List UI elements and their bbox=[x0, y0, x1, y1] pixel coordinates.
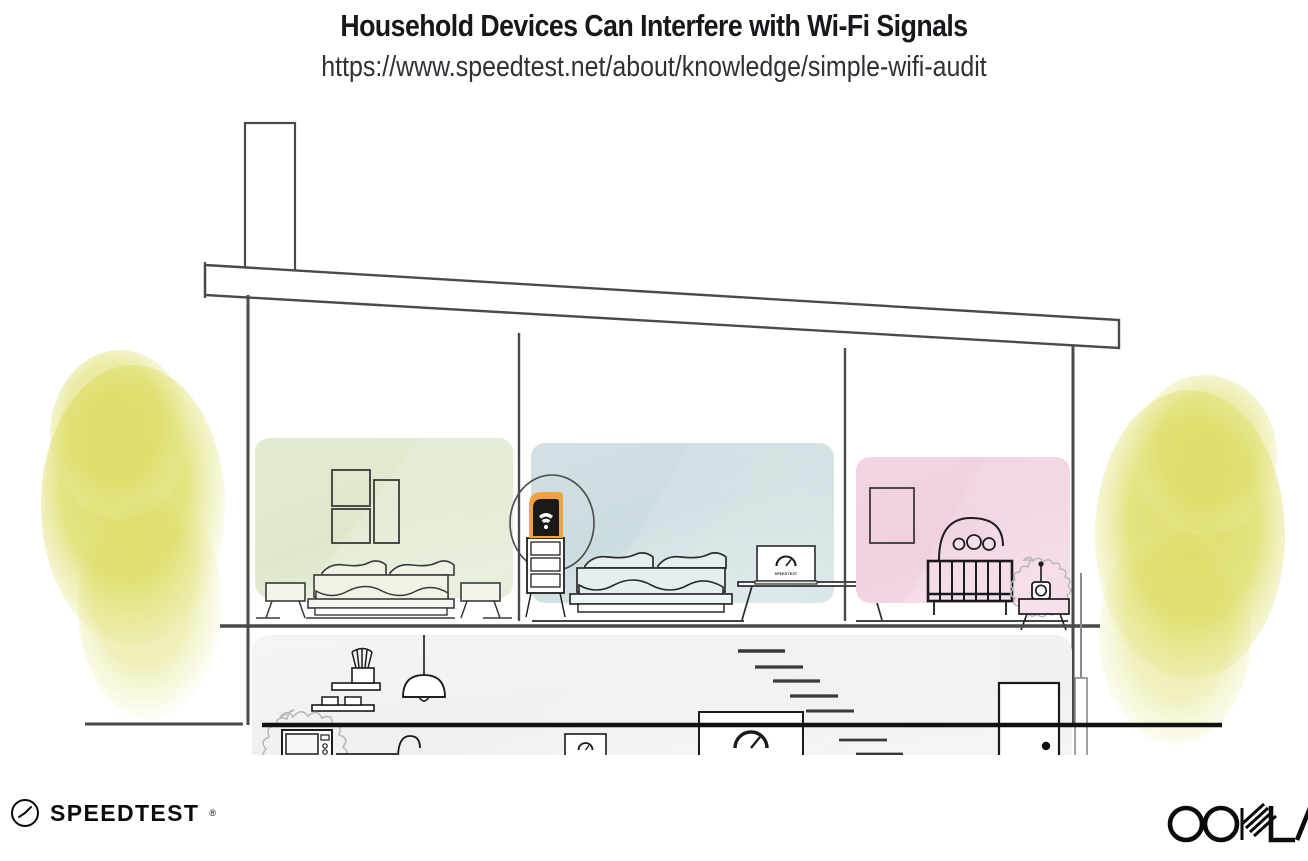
house-cutaway-svg: SPEEDTEST bbox=[0, 105, 1308, 755]
room-bedroom-blue: SPEEDTEST bbox=[510, 443, 886, 621]
source-url: https://www.speedtest.net/about/knowledg… bbox=[92, 51, 1217, 84]
tree-foliage-right bbox=[1095, 375, 1285, 745]
room-nursery-pink bbox=[856, 457, 1071, 630]
room-bedroom-green bbox=[255, 438, 513, 618]
microwave[interactable] bbox=[282, 730, 332, 755]
window-strip bbox=[1075, 573, 1087, 755]
nightstand-left bbox=[266, 583, 305, 618]
front-door[interactable] bbox=[999, 683, 1059, 755]
room-living-kitchen-gray: SPEEDTEST SPEEDTEST bbox=[252, 635, 1072, 755]
speedtest-gauge-icon bbox=[10, 798, 40, 828]
ookla-wordmark-icon bbox=[1164, 802, 1308, 846]
page-title: Household Devices Can Interfere with Wi-… bbox=[92, 8, 1217, 44]
speedtest-wordmark: SPEEDTEST bbox=[50, 800, 199, 827]
chimney bbox=[245, 123, 295, 278]
door-knob bbox=[1042, 742, 1050, 750]
ookla-logo[interactable] bbox=[1164, 802, 1308, 851]
house-illustration: SPEEDTEST bbox=[0, 105, 1308, 755]
poster-page: Household Devices Can Interfere with Wi-… bbox=[0, 0, 1308, 861]
bed-blue bbox=[570, 553, 732, 612]
speedtest-trademark: ® bbox=[209, 808, 216, 818]
poster-header: Household Devices Can Interfere with Wi-… bbox=[0, 0, 1308, 84]
laptop-dining[interactable]: SPEEDTEST bbox=[557, 734, 614, 755]
nightstand-right bbox=[461, 583, 500, 618]
speedtest-logo[interactable]: SPEEDTEST ® bbox=[10, 798, 216, 828]
laptop-dining-screen-label: SPEEDTEST bbox=[576, 754, 595, 755]
laptop-screen-label: SPEEDTEST bbox=[775, 572, 798, 576]
bed-green bbox=[308, 561, 454, 615]
tree-foliage-left bbox=[41, 350, 225, 720]
sloped-roof-slab bbox=[205, 262, 1119, 348]
shelf-unit bbox=[526, 538, 565, 617]
laptop-bedroom[interactable]: SPEEDTEST bbox=[755, 546, 817, 584]
television[interactable]: SPEEDTEST bbox=[699, 712, 803, 755]
wifi-router[interactable] bbox=[529, 492, 563, 538]
poster-footer: SPEEDTEST ® bbox=[0, 780, 1308, 861]
